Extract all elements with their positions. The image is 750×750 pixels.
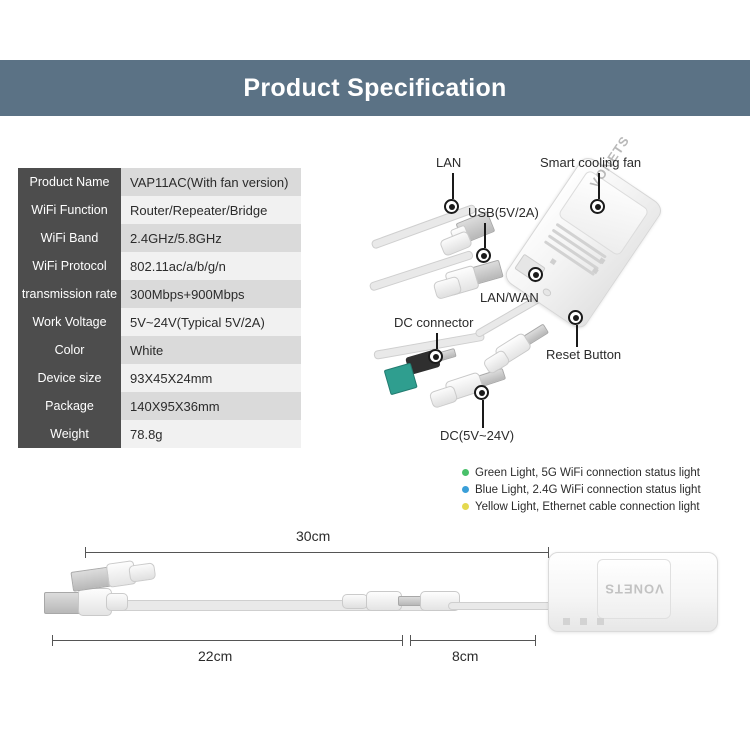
callout-marker-usb <box>476 248 491 263</box>
callout-label-usb: USB(5V/2A) <box>468 205 539 220</box>
led-indicator-row <box>563 618 604 625</box>
callout-marker-dc-connector <box>428 349 443 364</box>
legend-text: Green Light, 5G WiFi connection status l… <box>475 467 700 479</box>
spec-value: White <box>121 336 301 364</box>
dc-barrel-pair <box>342 588 462 618</box>
spec-value: 300Mbps+900Mbps <box>121 280 301 308</box>
table-row: Work Voltage 5V~24V(Typical 5V/2A) <box>18 308 301 336</box>
led-indicator <box>550 258 557 265</box>
legend-item: Blue Light, 2.4G WiFi connection status … <box>462 481 750 498</box>
legend-text: Yellow Light, Ethernet cable connection … <box>475 501 700 513</box>
callout-label-lan: LAN <box>436 155 461 170</box>
spec-value: 5V~24V(Typical 5V/2A) <box>121 308 301 336</box>
callout-label-dc-connector: DC connector <box>394 315 473 330</box>
rj45-plug-dimension <box>70 556 158 603</box>
spec-label: WiFi Band <box>18 224 121 252</box>
legend-dot-green <box>462 469 469 476</box>
spec-label: Color <box>18 336 121 364</box>
spec-value: VAP11AC(With fan version) <box>121 168 301 196</box>
leader-line-fan <box>598 173 600 199</box>
legend-item: Green Light, 5G WiFi connection status l… <box>462 464 750 481</box>
callout-marker-lanwan <box>528 267 543 282</box>
legend-text: Blue Light, 2.4G WiFi connection status … <box>475 484 701 496</box>
led-indicator <box>563 618 570 625</box>
callout-label-dc-range: DC(5V~24V) <box>440 428 514 443</box>
page-title: Product Specification <box>243 74 506 103</box>
spec-label: Weight <box>18 420 121 448</box>
callout-marker-lan <box>444 199 459 214</box>
legend-dot-yellow <box>462 503 469 510</box>
dimension-line-tail <box>410 640 535 641</box>
spec-label: WiFi Function <box>18 196 121 224</box>
dimension-label-cable: 22cm <box>198 648 232 664</box>
table-row: Color White <box>18 336 301 364</box>
spec-value: 2.4GHz/5.8GHz <box>121 224 301 252</box>
legend-item: Yellow Light, Ethernet cable connection … <box>462 498 750 515</box>
legend-dot-blue <box>462 486 469 493</box>
specification-table: Product Name VAP11AC(With fan version) W… <box>18 168 301 448</box>
leader-line-reset <box>576 325 578 347</box>
spec-label: WiFi Protocol <box>18 252 121 280</box>
dimension-tick <box>85 547 86 558</box>
device-cap-bottom: VONETS <box>597 559 671 619</box>
leader-line-usb <box>484 223 486 248</box>
spec-label: Device size <box>18 364 121 392</box>
header-banner: Product Specification <box>0 60 750 116</box>
spec-label: Work Voltage <box>18 308 121 336</box>
table-row: Device size 93X45X24mm <box>18 364 301 392</box>
callout-marker-reset <box>568 310 583 325</box>
callout-marker-dc-range <box>474 385 489 400</box>
led-indicator <box>580 618 587 625</box>
spec-label: Product Name <box>18 168 121 196</box>
callout-label-reset: Reset Button <box>546 347 621 362</box>
callout-marker-fan <box>590 199 605 214</box>
dimension-diagram: 30cm VONETS <box>0 520 750 670</box>
spec-value: 93X45X24mm <box>121 364 301 392</box>
spec-value: 802.11ac/a/b/g/n <box>121 252 301 280</box>
product-diagram: VONETS LAN USB(5V/2A) Smart cooling fan … <box>380 155 750 455</box>
spec-label: transmission rate <box>18 280 121 308</box>
led-status-legend: Green Light, 5G WiFi connection status l… <box>462 464 750 515</box>
table-row: Package 140X95X36mm <box>18 392 301 420</box>
reset-button <box>541 287 552 298</box>
dimension-label-total: 30cm <box>296 528 330 544</box>
dimension-label-tail: 8cm <box>452 648 478 664</box>
callout-label-fan: Smart cooling fan <box>540 155 641 170</box>
leader-line-dc-range <box>482 400 484 428</box>
table-row: transmission rate 300Mbps+900Mbps <box>18 280 301 308</box>
dimension-tick <box>402 635 403 646</box>
spec-value: 140X95X36mm <box>121 392 301 420</box>
spec-value: Router/Repeater/Bridge <box>121 196 301 224</box>
dimension-line-total <box>85 552 548 553</box>
dimension-tail-cable <box>448 602 552 610</box>
table-row: WiFi Protocol 802.11ac/a/b/g/n <box>18 252 301 280</box>
leader-line-dc-connector <box>436 333 438 349</box>
led-indicator <box>597 618 604 625</box>
dimension-tick <box>52 635 53 646</box>
spec-label: Package <box>18 392 121 420</box>
leader-line-lan <box>452 173 454 199</box>
callout-label-lanwan: LAN/WAN <box>480 290 539 305</box>
table-row: Weight 78.8g <box>18 420 301 448</box>
dimension-line-cable <box>52 640 402 641</box>
device-shell-bottom: VONETS <box>548 552 718 632</box>
vonets-logo-bottom: VONETS <box>604 582 663 597</box>
table-row: Product Name VAP11AC(With fan version) <box>18 168 301 196</box>
spec-value: 78.8g <box>121 420 301 448</box>
table-row: WiFi Function Router/Repeater/Bridge <box>18 196 301 224</box>
dimension-tick <box>410 635 411 646</box>
device-body-bottom: VONETS <box>548 552 718 640</box>
dimension-tick <box>535 635 536 646</box>
table-row: WiFi Band 2.4GHz/5.8GHz <box>18 224 301 252</box>
